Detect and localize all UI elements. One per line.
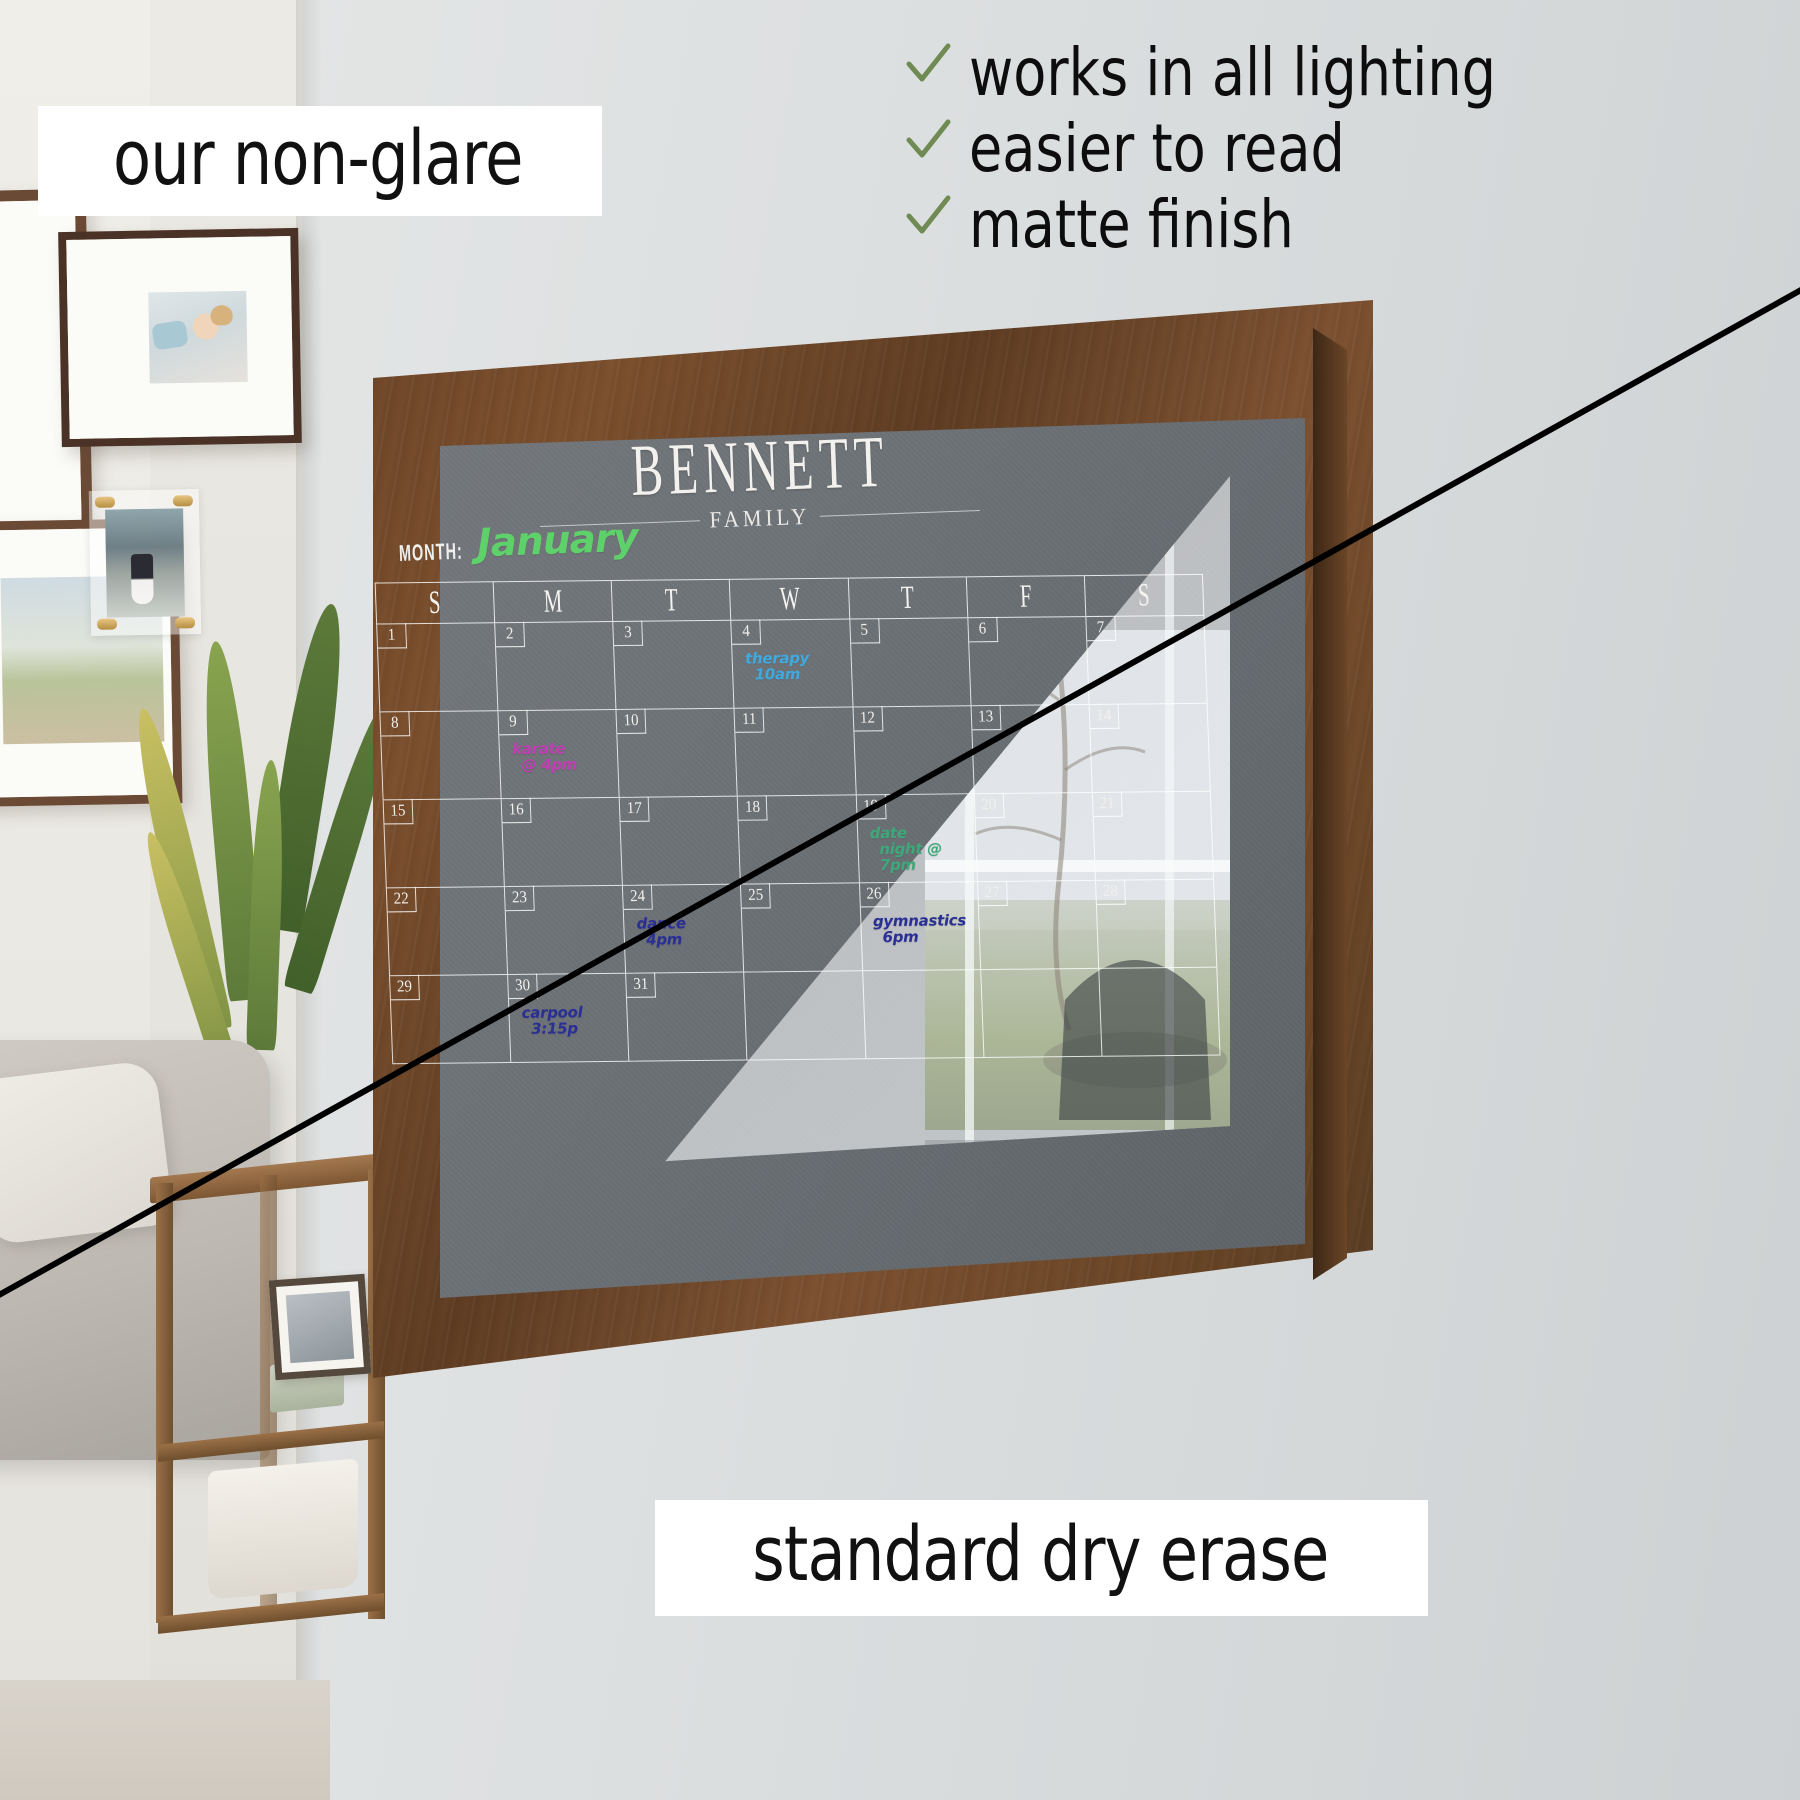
calendar-day-cell[interactable]: 28 [1095,880,1217,969]
day-header-label: F [1019,578,1032,616]
day-number: 31 [626,972,656,998]
framed-dry-erase-calendar: BENNETT FAMILY MONTH: January SMTWTFS123… [365,300,1375,1380]
day-number: 26 [859,882,889,908]
callout-non-glare: our non-glare [38,106,602,216]
month-row: MONTH: January [392,521,638,565]
calendar-day-cell[interactable]: 15 [383,799,504,888]
calendar-day-cell[interactable]: 23 [504,886,625,975]
check-icon [905,190,951,242]
day-number: 14 [1089,704,1119,730]
brass-stud [97,618,117,629]
calendar-day-cell[interactable]: 26gymnastics6pm [859,882,980,971]
calendar-day-cell[interactable]: 12 [852,706,973,795]
day-header-cell: S [375,581,495,624]
calendar-day-cell[interactable]: 19datenight @ 7pm [855,794,976,883]
board-subtitle: FAMILY [709,503,811,534]
calendar-event-handwritten: dance4pm [636,915,686,948]
calendar-day-cell[interactable]: 10 [616,709,737,798]
callout-non-glare-text: our non-glare [113,120,523,196]
day-number: 10 [617,708,647,734]
day-header-cell: W [729,578,849,621]
calendar-day-cell[interactable]: 2 [494,622,615,711]
calendar-day-cell[interactable]: 22 [386,887,507,976]
calendar-week-row: 89karate@ 4pm1011121314 [379,704,1210,801]
calendar-day-cell[interactable]: 18 [737,795,858,884]
calendar-event-handwritten: therapy10am [745,650,810,683]
calendar-week-row: 1234therapy10am567 [376,616,1207,713]
calendar-week-row: 1516171819datenight @ 7pm2021 [383,792,1214,889]
day-number: 12 [853,706,883,732]
calendar-event-handwritten: gymnastics6pm [873,912,967,945]
brass-stud [95,497,115,508]
day-header-cell: S [1084,574,1205,617]
day-number: 28 [1096,879,1126,905]
day-number: 25 [741,883,771,909]
calendar-day-cell[interactable]: 21 [1092,792,1214,881]
calendar-day-cell[interactable]: 14 [1088,704,1210,793]
calendar-day-cell[interactable]: 7 [1085,616,1207,705]
calendar-day-cell[interactable]: 29 [389,975,510,1064]
day-number: 8 [380,711,410,737]
baby-photo-body [151,319,189,350]
benefit-label: easier to read [969,114,1345,184]
product-marketing-image: BENNETT FAMILY MONTH: January SMTWTFS123… [0,0,1800,1800]
day-number: 9 [499,710,529,736]
day-header-label: S [1138,577,1151,615]
calendar-day-cell[interactable]: 1 [376,623,497,712]
frame-side-edge [1313,328,1347,1283]
calendar-day-cell[interactable]: 16 [501,798,622,887]
benefit-item: matte finish [905,190,1785,260]
day-number: 27 [978,881,1008,907]
day-header-cell: T [611,579,731,622]
brass-stud [173,495,193,506]
calendar-event-handwritten: datenight @ 7pm [869,824,976,874]
day-number: 2 [495,622,525,648]
check-icon [905,38,951,90]
day-number: 23 [505,886,535,912]
day-number: 7 [1086,616,1116,642]
day-number: 17 [620,796,650,822]
benefits-list: works in all lightingeasier to readmatte… [905,38,1785,266]
day-number: 5 [850,618,880,644]
calendar-day-cell[interactable]: 6 [967,617,1088,706]
baby-photo-hair [211,305,233,325]
calendar-event-handwritten: carpool3:15p [521,1004,583,1037]
calendar-grid: SMTWTFS1234therapy10am56789karate@ 4pm10… [375,574,1224,1142]
day-number: 4 [732,619,762,645]
calendar-day-cell[interactable]: 31 [625,973,746,1062]
brass-stud [175,617,195,628]
day-header-label: S [428,584,441,622]
calendar-day-cell[interactable]: 20 [973,793,1094,882]
calendar-day-cell[interactable]: 3 [613,621,734,710]
woven-basket [208,1458,358,1599]
benefit-item: easier to read [905,114,1785,184]
day-header-label: M [543,583,563,621]
day-number: 3 [613,621,643,647]
day-number: 15 [384,799,414,825]
frame-baby-photo [58,228,302,447]
day-number: 1 [377,623,407,649]
calendar-day-cell[interactable]: 17 [619,797,740,886]
month-value-handwritten: January [477,521,639,562]
day-number: 6 [968,617,998,643]
calendar-day-cell[interactable] [1098,968,1220,1057]
throw-pillow [0,1059,174,1245]
day-number: 30 [508,974,538,1000]
calendar-day-cell[interactable]: 8 [379,711,500,800]
day-number: 21 [1093,791,1123,817]
calendar-day-cell[interactable]: 30carpool3:15p [507,974,628,1063]
check-icon [905,114,951,166]
day-number: 16 [502,798,532,824]
day-header-label: W [779,580,800,618]
calendar-day-cell[interactable]: 24dance4pm [622,885,743,974]
day-number: 20 [974,793,1004,819]
calendar-day-cell[interactable] [744,971,865,1060]
day-header-label: T [901,579,915,617]
subtitle-rule-right [820,510,980,517]
month-label: MONTH: [398,539,463,568]
side-table [150,1165,390,1635]
calendar-week-row: 222324dance4pm2526gymnastics6pm2728 [386,880,1217,977]
benefit-label: works in all lighting [969,38,1496,108]
calendar-event-handwritten: karate@ 4pm [512,740,578,773]
day-header-cell: M [493,580,613,623]
calendar-day-cell[interactable]: 27 [977,881,1098,970]
day-number: 22 [387,887,417,913]
day-header-label: T [664,582,678,620]
wedding-photo [105,508,185,617]
day-number: 18 [738,795,768,821]
day-number: 11 [735,707,765,733]
day-number: 24 [623,884,653,910]
calendar-day-cell[interactable]: 11 [734,707,855,796]
calendar-week-row: 2930carpool3:15p31 [389,968,1220,1065]
day-header-cell: T [847,576,967,619]
calendar-day-cell[interactable] [862,970,983,1059]
callout-standard-dry-erase: standard dry erase [655,1500,1428,1616]
day-number: 19 [856,794,886,820]
callout-standard-text: standard dry erase [752,1516,1328,1592]
calendar-day-cell[interactable]: 9karate@ 4pm [498,710,619,799]
tabletop-photo-frame [269,1274,372,1380]
calendar-day-cell[interactable]: 4therapy10am [731,620,852,709]
acrylic-float-frame [89,489,202,636]
day-header-cell: F [965,575,1085,618]
calendar-day-cell[interactable]: 25 [740,883,861,972]
calendar-day-cell[interactable]: 5 [849,618,970,707]
day-number: 29 [390,975,420,1001]
table-leg [156,1183,173,1623]
calendar-day-cell[interactable] [980,969,1101,1058]
floor [0,1680,330,1800]
day-number: 13 [971,705,1001,731]
benefit-label: matte finish [969,190,1294,260]
benefit-item: works in all lighting [905,38,1785,108]
calendar-day-cell[interactable]: 13 [970,705,1091,794]
